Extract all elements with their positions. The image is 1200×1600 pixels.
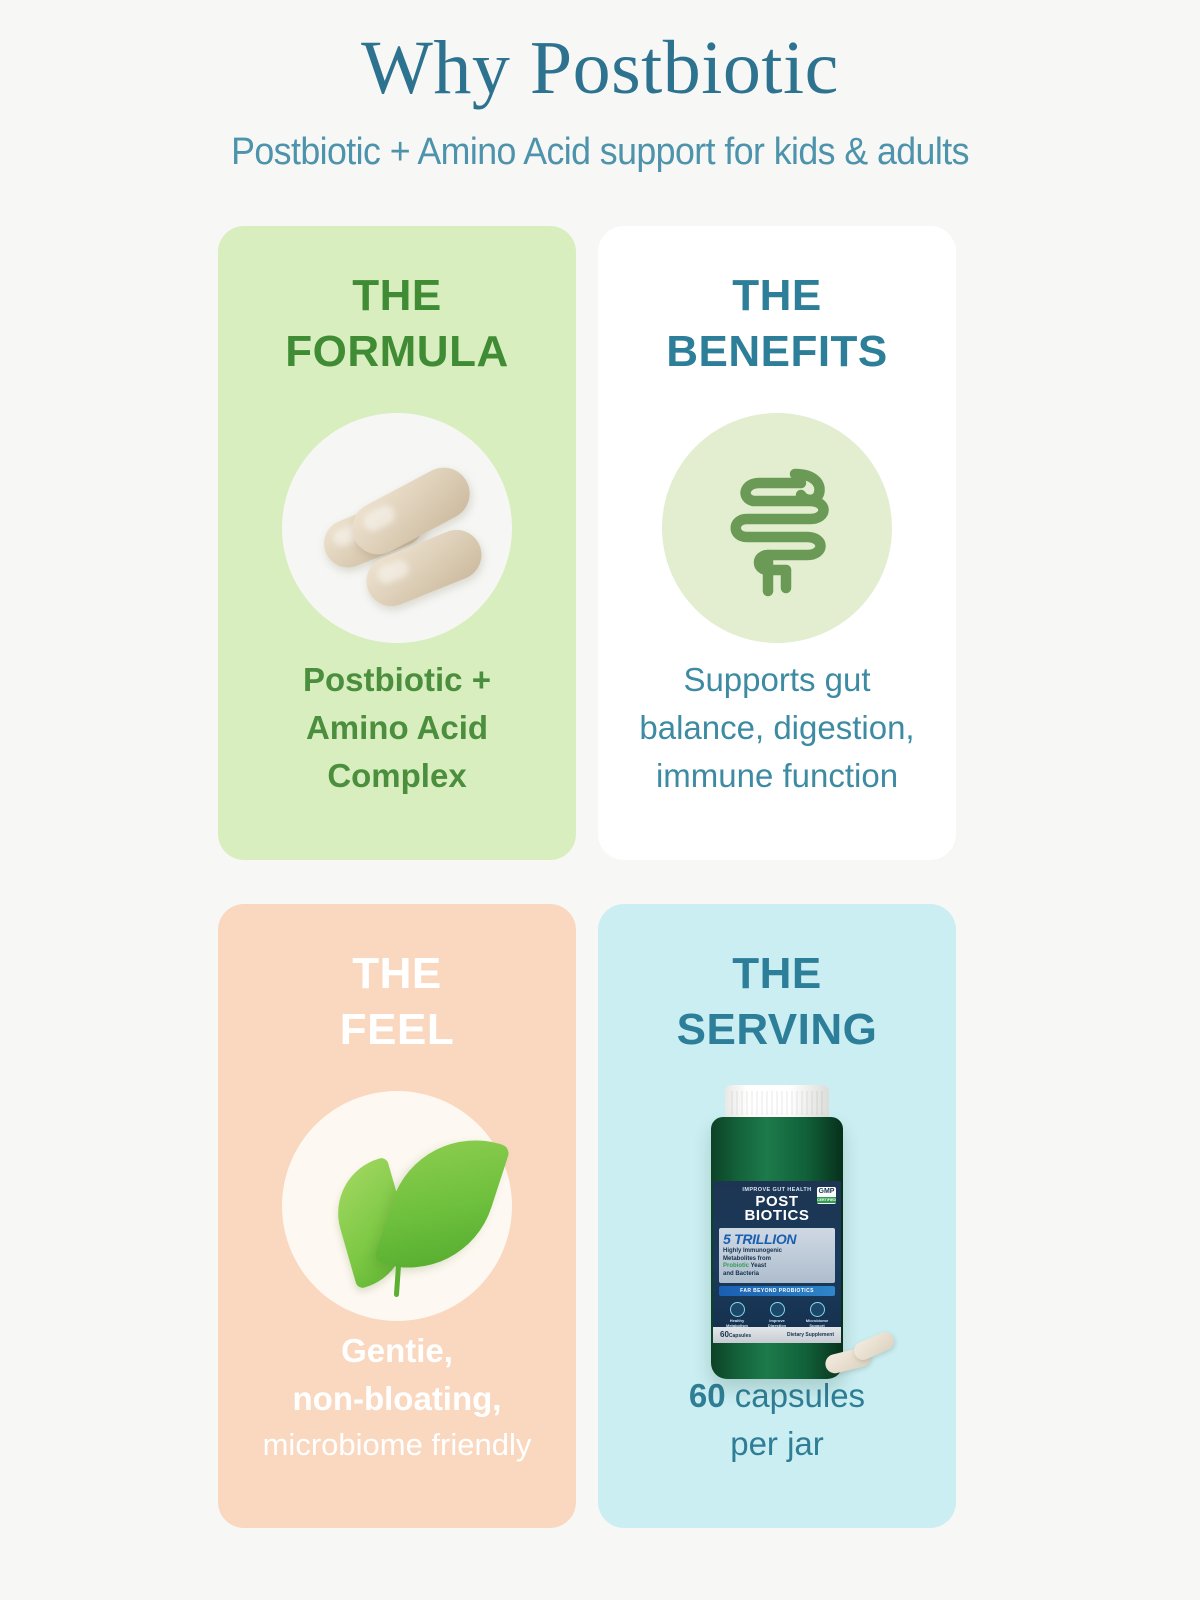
- bottle-count-number: 60: [720, 1330, 729, 1339]
- header: Why Postbiotic Postbiotic + Amino Acid s…: [0, 0, 1200, 174]
- page-subtitle: Postbiotic + Amino Acid support for kids…: [36, 132, 1164, 174]
- card-feel-heading-line2: FEEL: [340, 1005, 454, 1054]
- bottle-photo: GMP CERTIFIED IMPROVE GUT HEALTH POST BI…: [647, 1085, 907, 1373]
- card-feel-body: Gentie, non-bloating, microbiome friendl…: [218, 1327, 576, 1468]
- card-serving[interactable]: THE SERVING GMP CERTIFIED IMPROVE GUT HE…: [598, 904, 956, 1528]
- card-formula[interactable]: THE FORMULA Postbiotic + Amino Acid Comp…: [218, 226, 576, 860]
- card-formula-heading-line1: THE: [352, 271, 442, 320]
- card-benefits-heading: THE BENEFITS: [598, 268, 956, 381]
- digestion-icon: [770, 1302, 785, 1317]
- benefit-improve-digestion: Improve Digestion: [759, 1302, 795, 1329]
- card-benefits-body-line3: immune function: [656, 757, 898, 794]
- bottle-potency: 5 TRILLION: [723, 1232, 831, 1246]
- bottle-bottom-bar: 60Capsules Dietary Supplement: [713, 1327, 841, 1343]
- bottle-desc-line4: and Bacteria: [723, 1271, 759, 1277]
- bottle-desc-line3-hl: Probiotic: [723, 1263, 749, 1269]
- intestine-icon: [702, 453, 852, 603]
- card-benefits-body: Supports gut balance, digestion, immune …: [598, 656, 956, 800]
- loose-capsule-icon: [851, 1329, 897, 1363]
- page-title: Why Postbiotic: [0, 30, 1200, 106]
- bottle-count: 60Capsules: [720, 1330, 751, 1339]
- card-benefits-heading-line1: THE: [732, 271, 822, 320]
- card-formula-body-line2: Amino Acid: [306, 709, 488, 746]
- gmp-badge-sub: CERTIFIED: [817, 1197, 836, 1203]
- bottle-label: GMP CERTIFIED IMPROVE GUT HEALTH POST BI…: [713, 1181, 841, 1343]
- card-benefits-body-line1: Supports gut: [683, 661, 870, 698]
- card-feel-body-line1: Gentie,: [236, 1327, 558, 1375]
- microbiome-icon: [810, 1302, 825, 1317]
- card-serving-heading-line1: THE: [732, 949, 822, 998]
- gut-icon-circle: [662, 413, 892, 643]
- benefit-microbiome-support: Microbiome Support: [799, 1302, 835, 1329]
- bottle-desc-line3-rest: Yeast: [749, 1263, 766, 1269]
- bottle-count-word: Capsules: [729, 1333, 751, 1339]
- card-serving-heading-line2: SERVING: [677, 1005, 878, 1054]
- card-formula-heading: THE FORMULA: [218, 268, 576, 381]
- card-formula-heading-line2: FORMULA: [285, 327, 508, 376]
- card-feel-heading-line1: THE: [352, 949, 442, 998]
- card-benefits[interactable]: THE BENEFITS Supports gut balance, diges…: [598, 226, 956, 860]
- bottle-supplement-text: Dietary Supplement: [787, 1332, 834, 1338]
- metabolism-icon: [730, 1302, 745, 1317]
- card-formula-body-line1: Postbiotic +: [303, 661, 491, 698]
- benefit-healthy-metabolism: Healthy Metabolism: [719, 1302, 755, 1329]
- card-serving-heading: THE SERVING: [598, 946, 956, 1059]
- card-serving-body-line1: capsules: [726, 1377, 865, 1414]
- card-feel[interactable]: THE FEEL Gentie, non-bloating, microbiom…: [218, 904, 576, 1528]
- bottle-desc-line2: Metabolites from: [723, 1256, 771, 1262]
- bottle-benefit-icons: Healthy Metabolism Improve Digestion Mic…: [713, 1302, 841, 1329]
- infographic-page: Why Postbiotic Postbiotic + Amino Acid s…: [0, 0, 1200, 1600]
- bottle-tagline: FAR BEYOND PROBIOTICS: [719, 1286, 835, 1296]
- card-benefits-body-line2: balance, digestion,: [639, 709, 914, 746]
- card-grid: THE FORMULA Postbiotic + Amino Acid Comp…: [218, 226, 956, 1528]
- card-serving-count: 60: [689, 1377, 726, 1414]
- bottle-description: Highly Immunogenic Metabolites from Prob…: [723, 1248, 831, 1278]
- bottle-cap: [725, 1085, 829, 1119]
- capsules-photo: [282, 413, 512, 643]
- card-benefits-heading-line2: BENEFITS: [666, 327, 888, 376]
- card-serving-body-line2: per jar: [730, 1425, 824, 1462]
- leaf-stem-icon: [394, 1262, 401, 1296]
- leaf-icon: [373, 1117, 511, 1289]
- card-feel-body-line3: microbiome friendly: [236, 1423, 558, 1468]
- bottle-brand-line2: BIOTICS: [744, 1207, 809, 1224]
- gmp-badge-text: GMP: [817, 1187, 836, 1197]
- card-formula-body-line3: Complex: [327, 757, 466, 794]
- bottle-desc-line1: Highly Immunogenic: [723, 1248, 782, 1254]
- gmp-badge-icon: GMP CERTIFIED: [817, 1187, 836, 1204]
- card-serving-body: 60 capsules per jar: [598, 1372, 956, 1468]
- leaf-photo: [282, 1091, 512, 1321]
- card-feel-body-line2: non-bloating,: [236, 1375, 558, 1423]
- bottle-potency-panel: 5 TRILLION Highly Immunogenic Metabolite…: [719, 1228, 835, 1283]
- card-feel-heading: THE FEEL: [218, 946, 576, 1059]
- card-formula-body: Postbiotic + Amino Acid Complex: [218, 656, 576, 800]
